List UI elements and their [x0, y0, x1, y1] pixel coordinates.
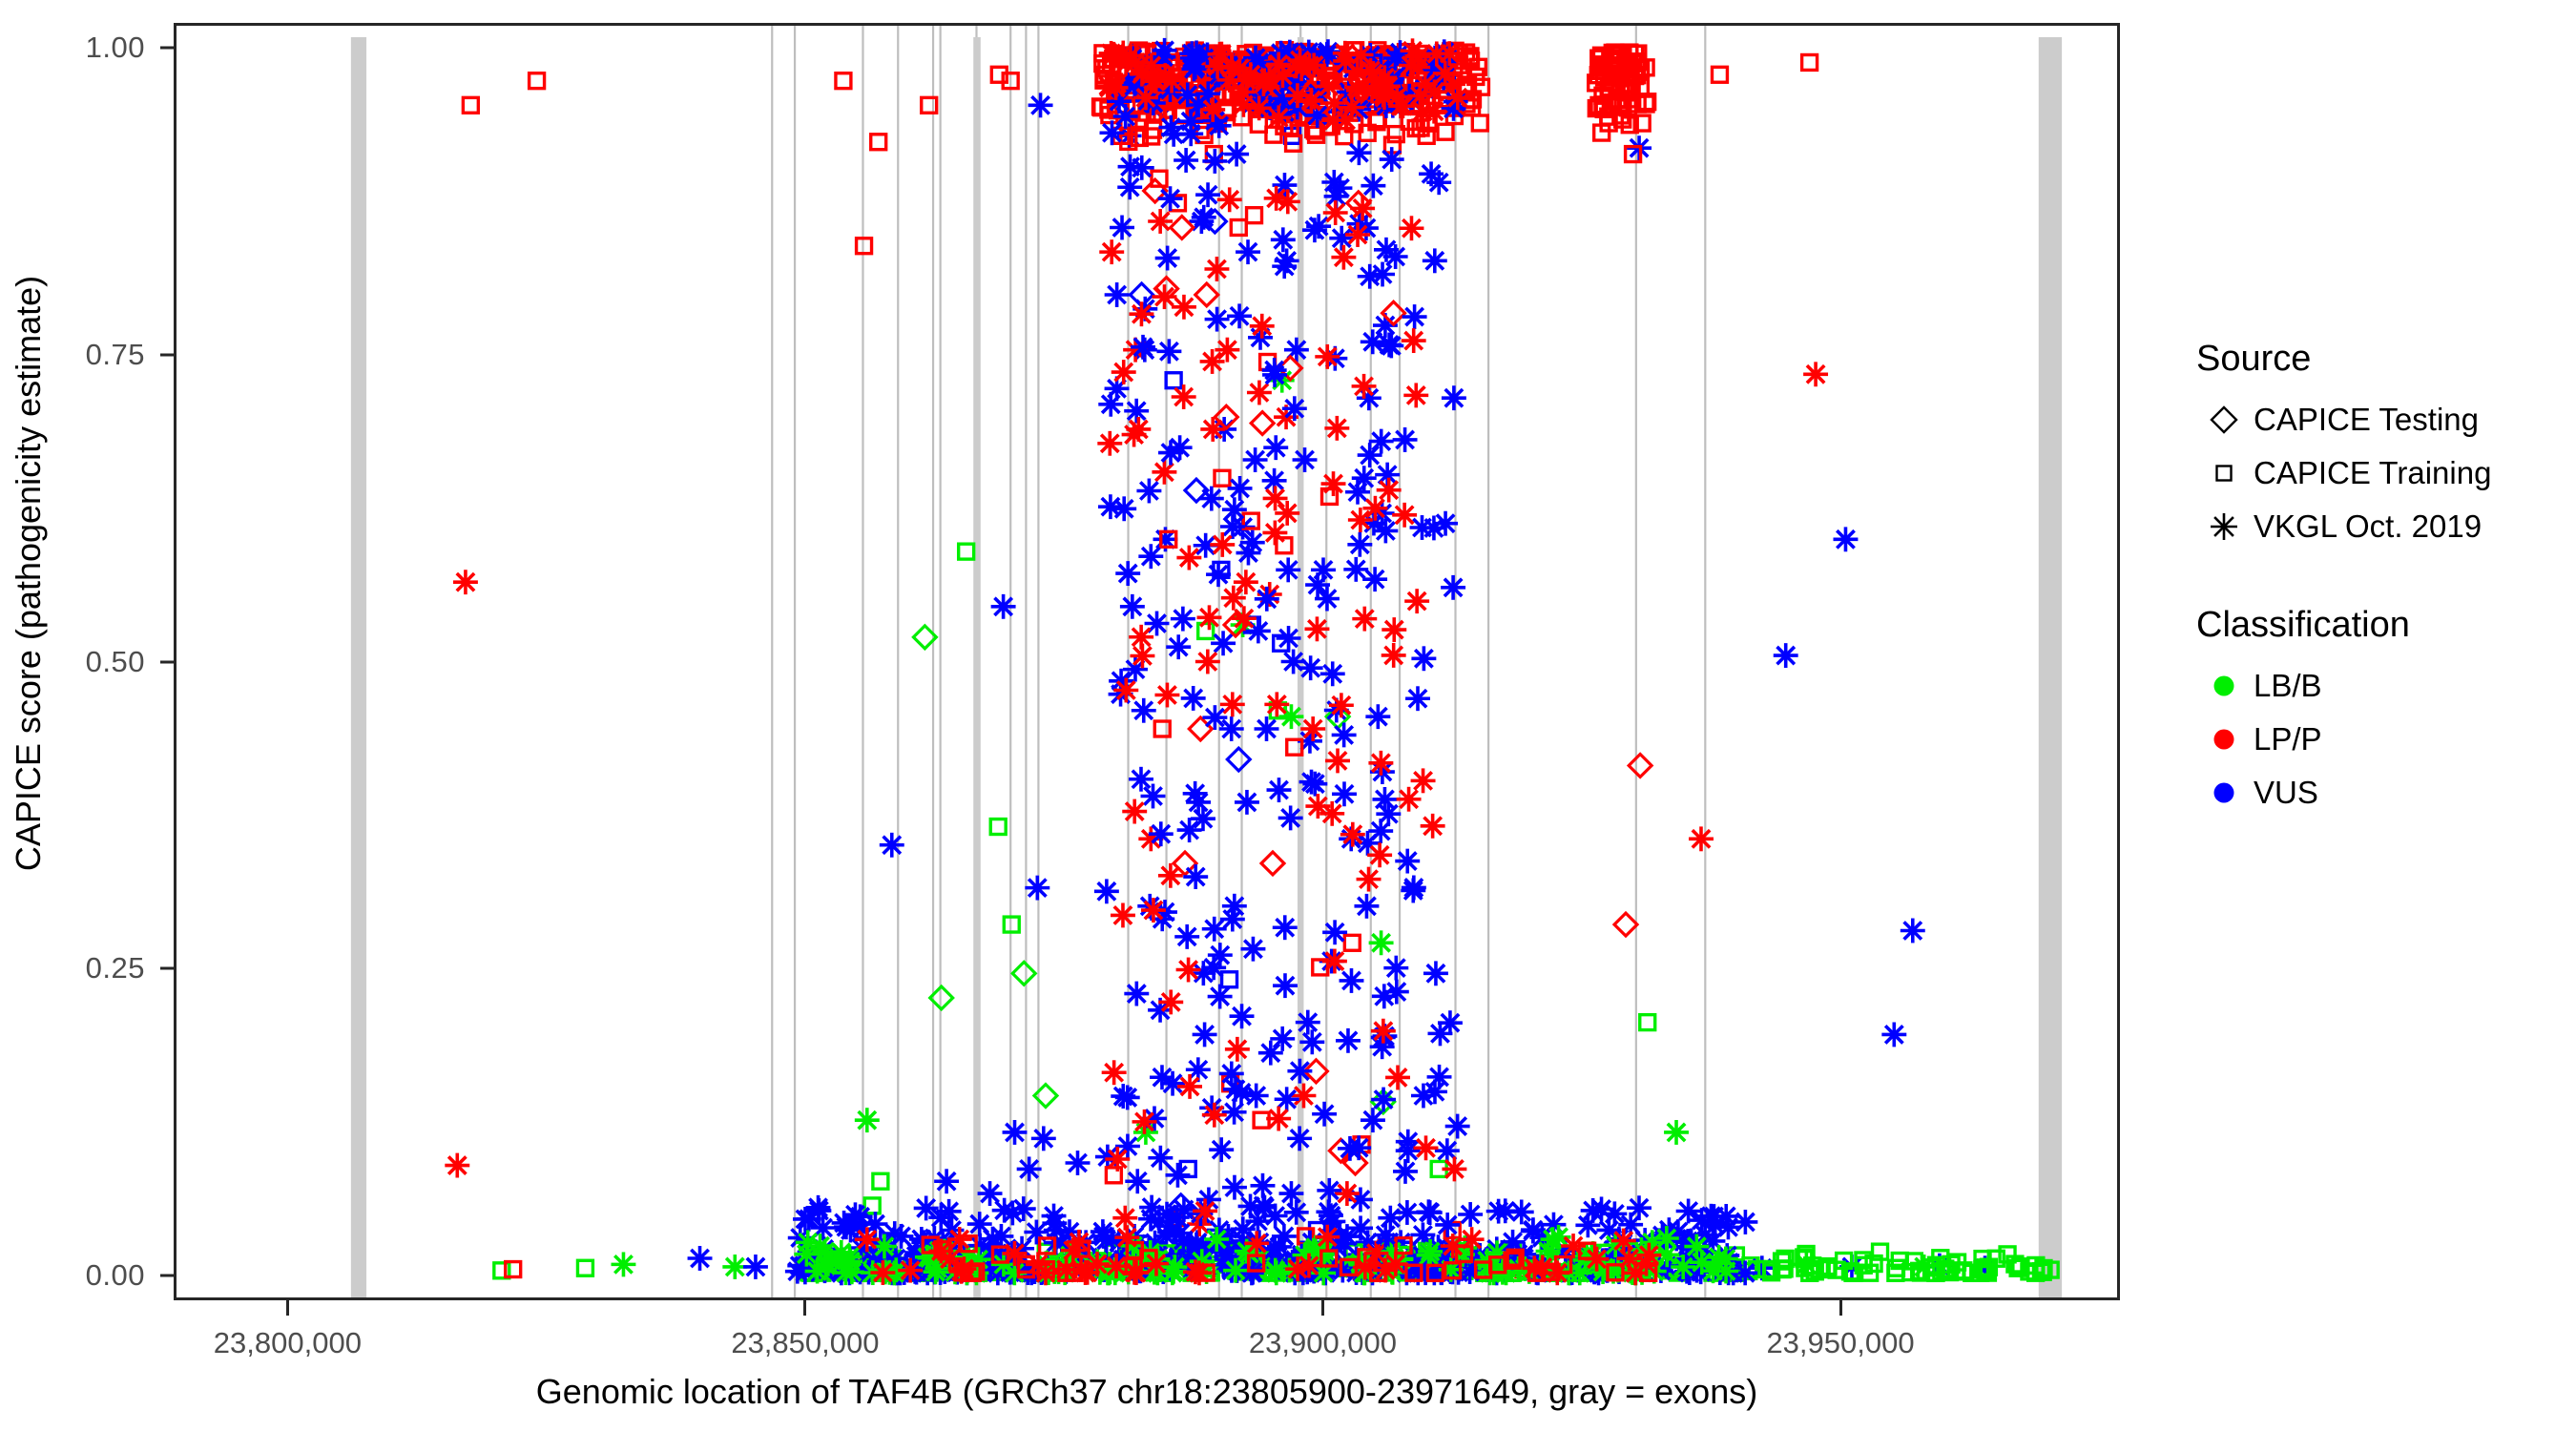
y-tick-mark — [160, 46, 174, 49]
lbb-color-dot-icon — [2194, 670, 2254, 702]
y-tick-mark — [160, 660, 174, 663]
legend-item-capice-training[interactable]: CAPICE Training — [2194, 446, 2566, 500]
lpp-color-dot-icon — [2194, 723, 2254, 756]
asterisk-icon — [2194, 510, 2254, 543]
y-tick-label: 0.00 — [86, 1258, 145, 1293]
scatter-plot-svg — [177, 26, 2117, 1297]
y-axis-tick-labels: 0.000.250.500.751.00 — [0, 0, 145, 1431]
legend-label-capice-training: CAPICE Training — [2254, 455, 2491, 491]
x-tick-label: 23,900,000 — [1249, 1326, 1397, 1360]
legend-label-vus: VUS — [2254, 775, 2318, 811]
legend-label-lpp: LP/P — [2254, 721, 2322, 757]
x-tick-mark — [1321, 1300, 1324, 1316]
y-tick-label: 0.75 — [86, 338, 145, 372]
legend: Source CAPICE Testing CAPICE Training VK… — [2194, 339, 2566, 819]
y-tick-label: 0.50 — [86, 645, 145, 679]
legend-title-classification: Classification — [2196, 605, 2566, 646]
plot-panel — [174, 23, 2120, 1300]
y-tick-label: 0.25 — [86, 951, 145, 985]
legend-item-vkgl[interactable]: VKGL Oct. 2019 — [2194, 500, 2566, 553]
x-tick-label: 23,950,000 — [1766, 1326, 1914, 1360]
x-tick-mark — [286, 1300, 289, 1316]
scatter-series-density — [1589, 45, 1655, 140]
legend-item-capice-testing[interactable]: CAPICE Testing — [2194, 393, 2566, 446]
y-tick-label: 1.00 — [86, 31, 145, 65]
x-tick-label: 23,800,000 — [214, 1326, 362, 1360]
scatter-series — [913, 626, 1394, 1113]
x-axis-title: Genomic location of TAF4B (GRCh37 chr18:… — [174, 1372, 2120, 1412]
legend-spacer — [2194, 553, 2566, 605]
chart-root: CAPICE score (pathogenicity estimate) 0.… — [0, 0, 2576, 1431]
legend-item-lpp[interactable]: LP/P — [2194, 713, 2566, 766]
legend-label-vkgl: VKGL Oct. 2019 — [2254, 508, 2482, 545]
square-icon — [2194, 457, 2254, 489]
diamond-icon — [2194, 404, 2254, 436]
legend-label-lbb: LB/B — [2254, 668, 2322, 704]
vus-color-dot-icon — [2194, 777, 2254, 809]
x-tick-mark — [1839, 1300, 1842, 1316]
x-tick-mark — [803, 1300, 806, 1316]
legend-title-source: Source — [2196, 339, 2566, 380]
x-tick-label: 23,850,000 — [731, 1326, 879, 1360]
y-tick-mark — [160, 1275, 174, 1277]
y-tick-mark — [160, 967, 174, 970]
legend-label-capice-testing: CAPICE Testing — [2254, 402, 2479, 438]
legend-item-lbb[interactable]: LB/B — [2194, 659, 2566, 713]
y-tick-mark — [160, 353, 174, 356]
legend-item-vus[interactable]: VUS — [2194, 766, 2566, 819]
